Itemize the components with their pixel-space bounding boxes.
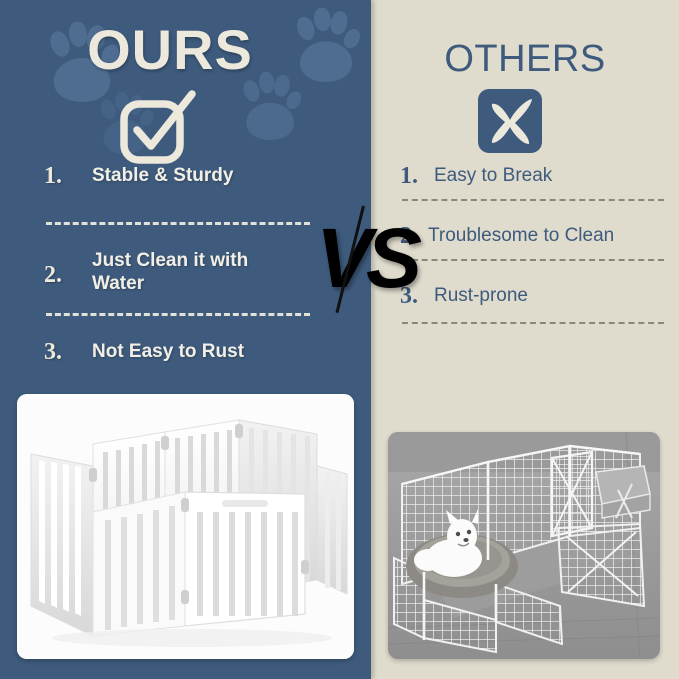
list-item-number: 2. [44,249,92,287]
list-item-number: 3. [44,340,92,364]
list-item: 3. Rust-prone [400,284,672,308]
list-item-label: Rust-prone [434,284,528,307]
list-item: 2. Troublesome to Clean [400,224,672,248]
checkbox-check-icon [118,88,198,171]
paw-print-icon [238,72,304,142]
cross-x-icon [477,88,543,159]
left-advantages-list: 1. Stable & Sturdy 2. Just Clean it with… [44,164,312,409]
list-item: 2. Just Clean it with Water [44,249,312,295]
left-panel-heading: OURS [0,17,340,82]
divider [46,222,310,225]
list-item-label: Troublesome to Clean [428,224,614,247]
list-item-label: Just Clean it with Water [92,249,302,295]
right-product-photo [388,432,660,659]
comparison-infographic: OURS OTHERS 1. Stable & Sturdy 2. Just C… [0,0,679,679]
list-item: 1. Easy to Break [400,164,672,188]
right-drawbacks-list: 1. Easy to Break 2. Troublesome to Clean… [400,164,672,324]
divider [46,313,310,316]
right-panel-heading: OTHERS [371,38,679,81]
list-item-label: Easy to Break [434,164,552,187]
list-item: 3. Not Easy to Rust [44,340,312,386]
vs-label: VS [316,216,416,300]
list-item-label: Not Easy to Rust [92,340,244,363]
list-item-number: 1. [400,164,434,188]
divider [402,322,664,324]
left-product-photo [17,394,354,659]
list-item: 1. Stable & Sturdy [44,164,312,210]
list-item-label: Stable & Sturdy [92,164,233,187]
list-item-number: 1. [44,164,92,188]
